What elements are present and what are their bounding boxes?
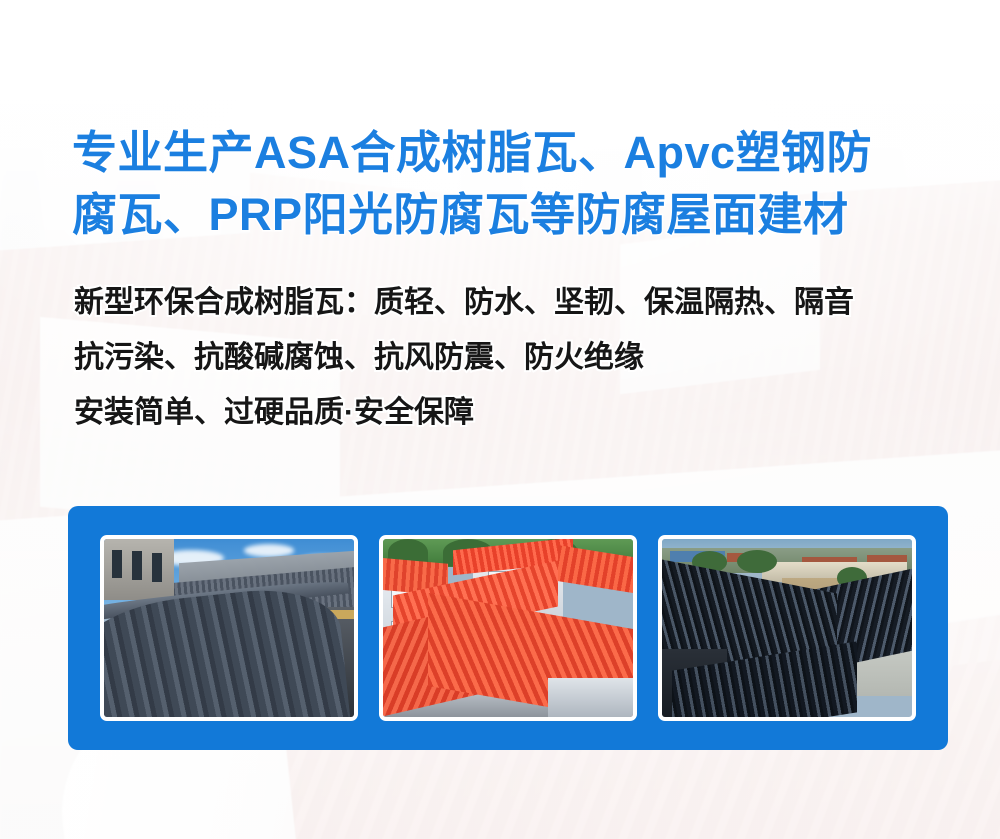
- banner-content: 专业生产ASA合成树脂瓦、Apvc塑钢防 腐瓦、PRP阳光防腐瓦等防腐屋面建材 …: [0, 0, 1000, 839]
- headline-line-1: 专业生产ASA合成树脂瓦、Apvc塑钢防: [72, 127, 872, 178]
- photo-gallery-panel: [68, 506, 948, 750]
- banner-subheadline: 新型环保合成树脂瓦：质轻、防水、坚韧、保温隔热、隔音 抗污染、抗酸碱腐蚀、抗风防…: [74, 275, 974, 440]
- photo1-window: [112, 550, 122, 578]
- dark-resin-tile-roof-photo[interactable]: [658, 535, 916, 721]
- subhead-line-3: 安装简单、过硬品质·安全保障: [74, 385, 974, 440]
- red-resin-tile-roof-photo[interactable]: [379, 535, 637, 721]
- photo3-far-red-roof: [867, 555, 907, 562]
- subhead-line-2: 抗污染、抗酸碱腐蚀、抗风防震、防火绝缘: [74, 330, 974, 385]
- grey-resin-tile-roof-photo[interactable]: [100, 535, 358, 721]
- banner-headline: 专业生产ASA合成树脂瓦、Apvc塑钢防 腐瓦、PRP阳光防腐瓦等防腐屋面建材: [72, 122, 952, 246]
- product-banner: 专业生产ASA合成树脂瓦、Apvc塑钢防 腐瓦、PRP阳光防腐瓦等防腐屋面建材 …: [0, 0, 1000, 839]
- photo1-window: [132, 551, 142, 579]
- headline-line-2: 腐瓦、PRP阳光防腐瓦等防腐屋面建材: [72, 184, 952, 246]
- photo2-building-front: [548, 678, 633, 717]
- photo3-tree: [737, 550, 777, 573]
- photo1-window: [152, 553, 162, 581]
- subhead-line-1: 新型环保合成树脂瓦：质轻、防水、坚韧、保温隔热、隔音: [74, 275, 974, 330]
